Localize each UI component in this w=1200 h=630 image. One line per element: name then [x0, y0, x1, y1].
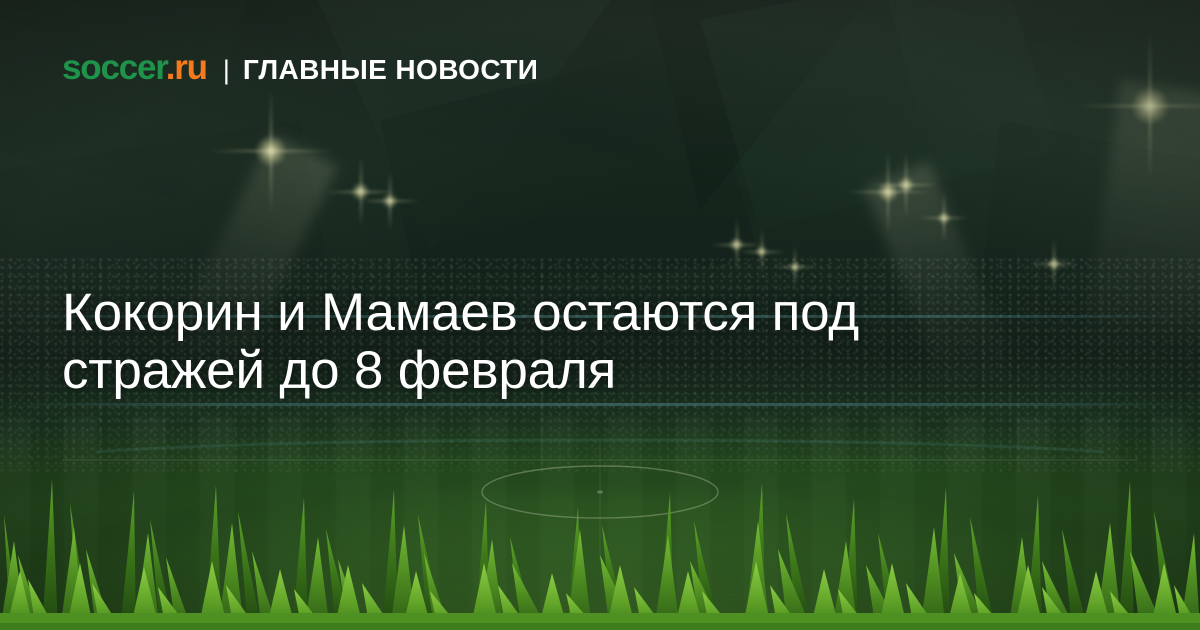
headline-line-2: стражей до 8 февраля	[62, 342, 1022, 400]
header-kicker: ГЛАВНЫЕ НОВОСТИ	[243, 56, 538, 84]
header-separator: |	[223, 57, 230, 84]
page-title: Кокорин и Мамаев остаются под стражей до…	[62, 284, 1022, 401]
soccer-ru-logo[interactable]: soccer.ru	[62, 50, 207, 85]
grass-foreground	[0, 445, 1200, 630]
news-share-card: soccer.ru | ГЛАВНЫЕ НОВОСТИ Кокорин и Ма…	[0, 0, 1200, 630]
logo-tld: .ru	[166, 48, 207, 87]
logo-name: soccer	[62, 48, 166, 87]
headline-line-1: Кокорин и Мамаев остаются под	[62, 284, 1022, 342]
card-header: soccer.ru | ГЛАВНЫЕ НОВОСТИ	[62, 50, 538, 85]
